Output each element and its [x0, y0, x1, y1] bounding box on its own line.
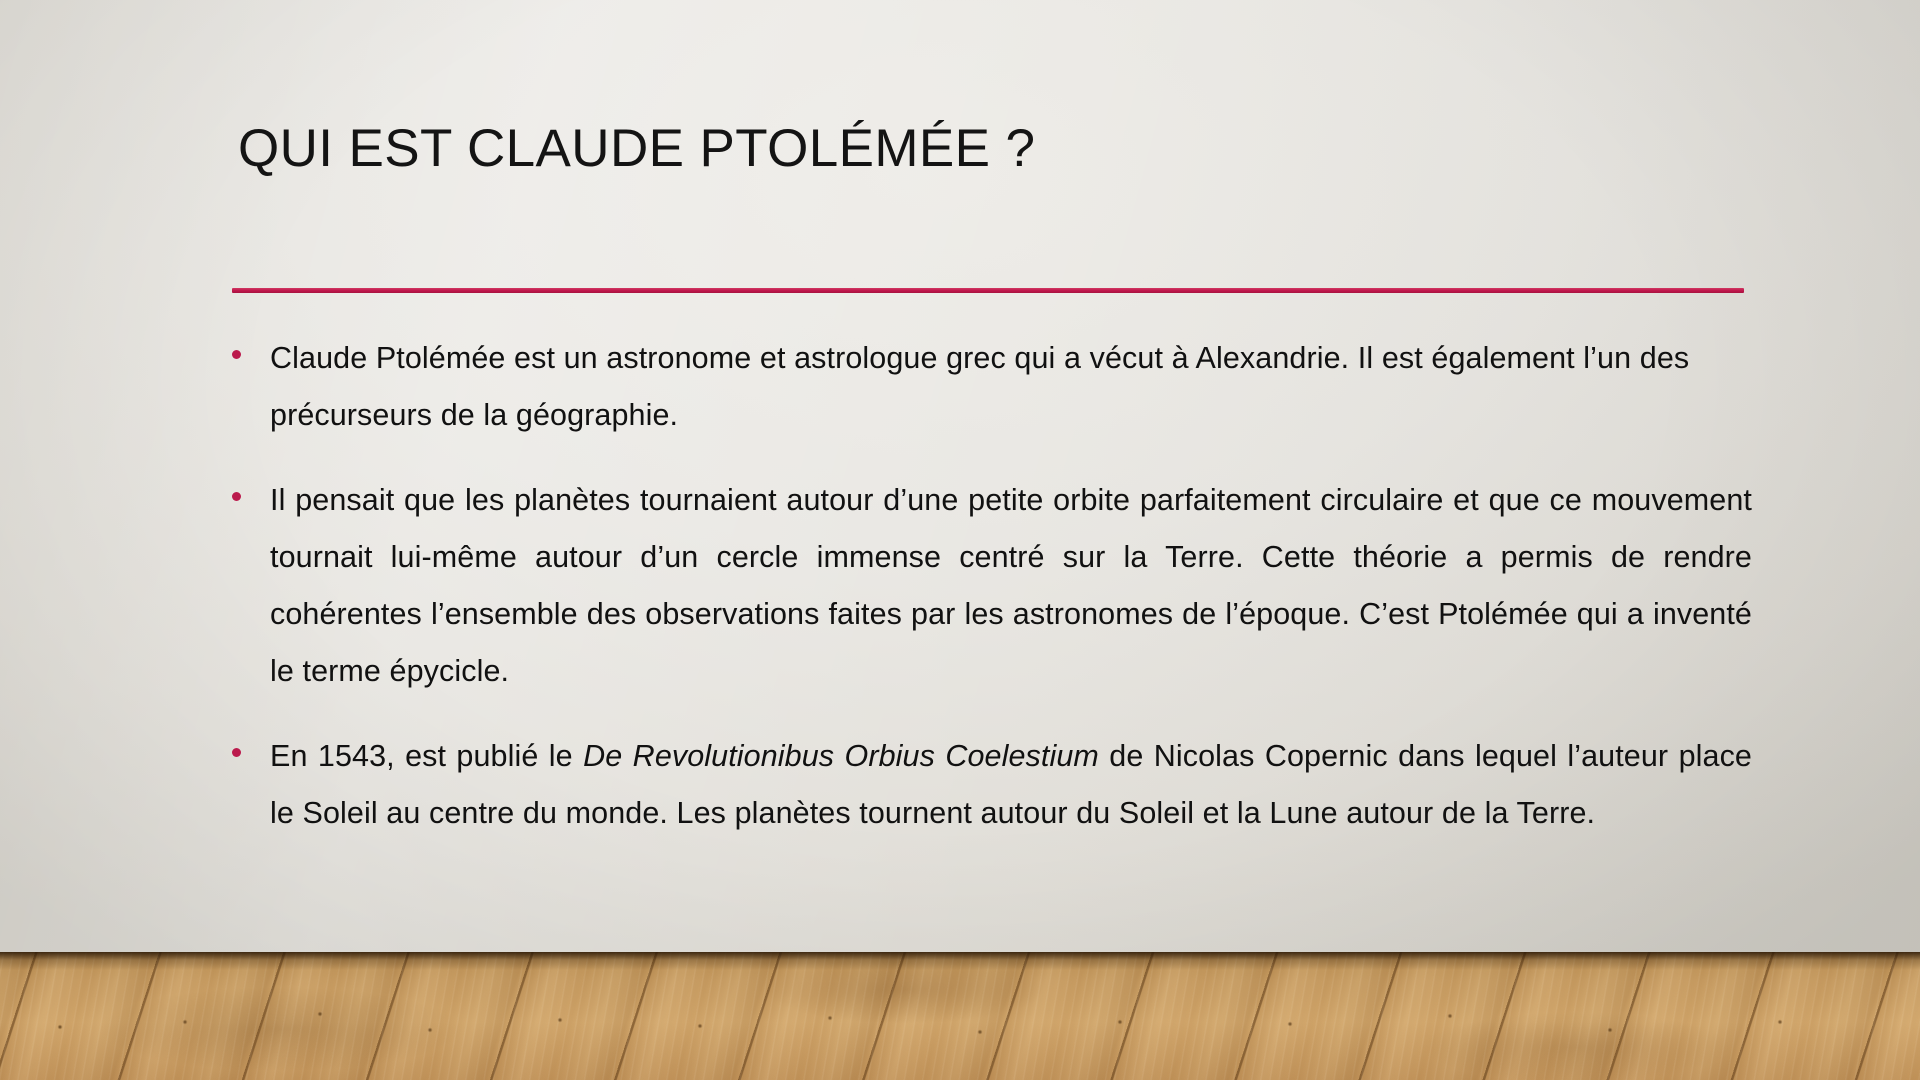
- list-item: Il pensait que les planètes tournaient a…: [232, 472, 1752, 700]
- bullet-text: Il pensait que les planètes tournaient a…: [270, 472, 1752, 700]
- title-divider: [232, 288, 1744, 293]
- presentation-slide: QUI EST CLAUDE PTOLÉMÉE ? Claude Ptolémé…: [0, 0, 1920, 1080]
- bullet-text-rich: En 1543, est publié le De Revolutionibus…: [270, 728, 1752, 842]
- floor-nail-heads: [0, 952, 1920, 1080]
- bullet-dot-icon: [232, 350, 241, 359]
- floor-baseboard-shadow: [0, 952, 1920, 970]
- book-title-italic: De Revolutionibus Orbius Coelestium: [583, 739, 1099, 773]
- list-item: En 1543, est publié le De Revolutionibus…: [232, 728, 1752, 842]
- text-run: En 1543, est publié le: [270, 739, 583, 773]
- slide-background-floor: [0, 952, 1920, 1080]
- slide-content: QUI EST CLAUDE PTOLÉMÉE ? Claude Ptolémé…: [0, 0, 1920, 952]
- bullet-text: Claude Ptolémée est un astronome et astr…: [270, 330, 1752, 444]
- list-item: Claude Ptolémée est un astronome et astr…: [232, 330, 1752, 444]
- bullet-dot-icon: [232, 748, 241, 757]
- page-title: QUI EST CLAUDE PTOLÉMÉE ?: [238, 118, 1738, 179]
- bullet-dot-icon: [232, 492, 241, 501]
- bullet-list: Claude Ptolémée est un astronome et astr…: [232, 330, 1752, 870]
